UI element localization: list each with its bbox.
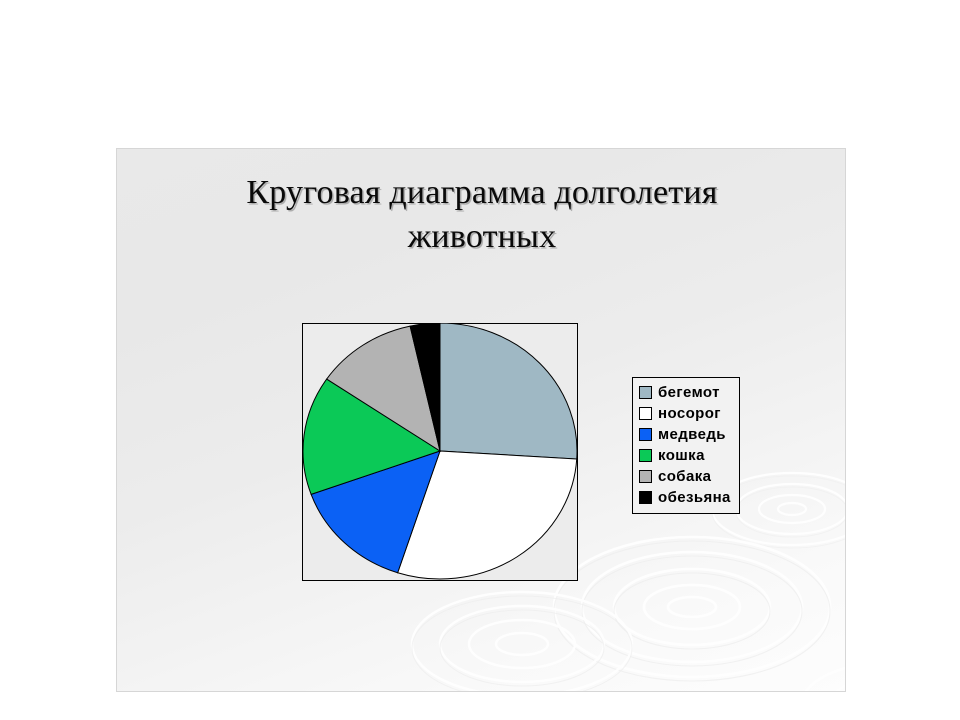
- legend-swatch-icon: [639, 449, 652, 462]
- legend-item-кошка[interactable]: кошка: [639, 445, 731, 466]
- pie-chart-svg[interactable]: [302, 323, 578, 581]
- legend-item-медведь[interactable]: медведь: [639, 424, 731, 445]
- legend-item-label: медведь: [658, 426, 726, 443]
- water-ripple-decoration-corner: [797, 649, 846, 692]
- page-title: Круговая диаграмма долголетия животных: [117, 171, 846, 258]
- legend-item-носорог[interactable]: носорог: [639, 403, 731, 424]
- water-ripple-decoration-large: [547, 517, 837, 692]
- legend-swatch-icon: [639, 407, 652, 420]
- legend-swatch-icon: [639, 470, 652, 483]
- legend-item-бегемот[interactable]: бегемот: [639, 382, 731, 403]
- legend-swatch-icon: [639, 428, 652, 441]
- legend-item-label: собака: [658, 468, 711, 485]
- pie-slice-group: [303, 323, 577, 579]
- legend-swatch-icon: [639, 491, 652, 504]
- pie-slice-0[interactable]: [440, 323, 577, 459]
- legend-item-label: бегемот: [658, 384, 720, 401]
- water-ripple-decoration-small-left: [407, 579, 637, 692]
- chart-legend[interactable]: бегемотносорогмедведькошкасобакаобезьяна: [632, 377, 740, 514]
- legend-swatch-icon: [639, 386, 652, 399]
- legend-item-label: кошка: [658, 447, 705, 464]
- legend-item-label: обезьяна: [658, 489, 731, 506]
- legend-item-собака[interactable]: собака: [639, 466, 731, 487]
- presentation-slide: Круговая диаграмма долголетия животных б…: [116, 148, 846, 692]
- legend-item-обезьяна[interactable]: обезьяна: [639, 487, 731, 508]
- legend-item-label: носорог: [658, 405, 721, 422]
- slide-canvas: Круговая диаграмма долголетия животных б…: [0, 0, 960, 720]
- pie-chart-object[interactable]: [302, 323, 578, 581]
